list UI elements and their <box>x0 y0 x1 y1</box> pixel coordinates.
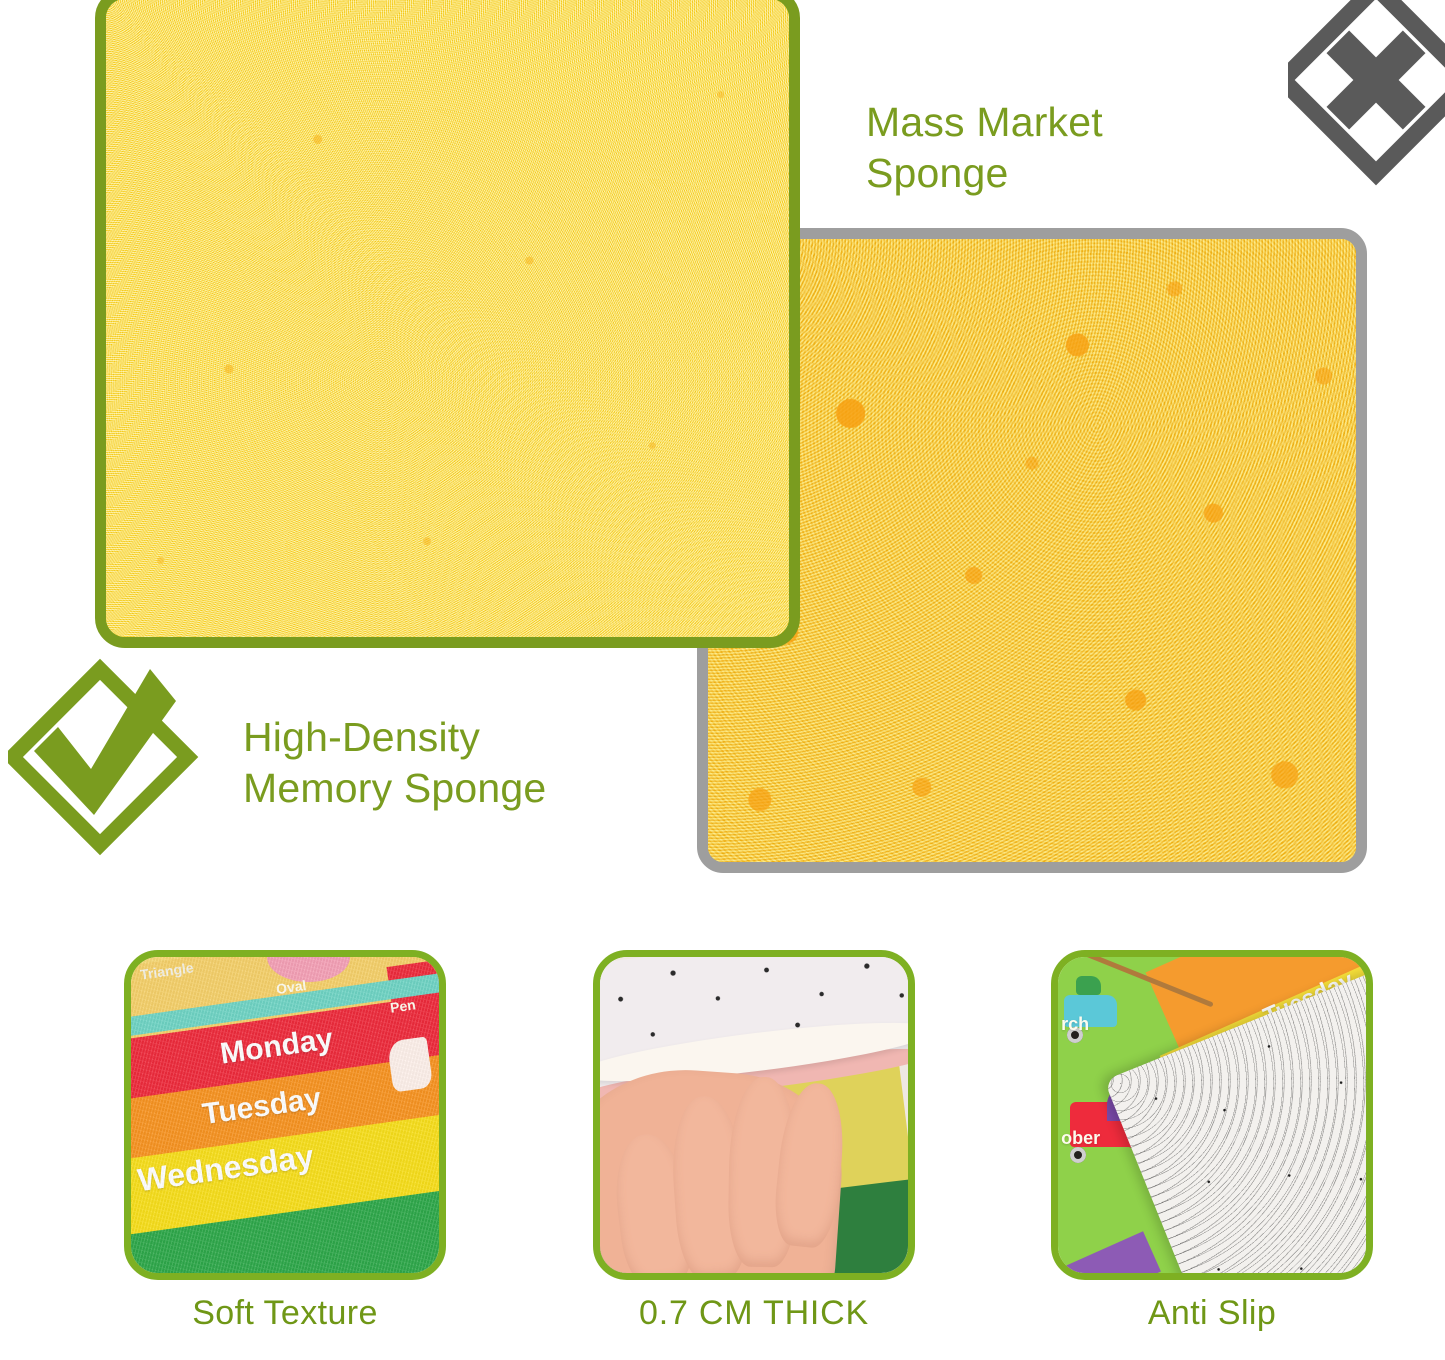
feature-caption-thickness: 0.7 CM THICK <box>593 1294 915 1333</box>
feature-item-soft-texture: Triangle Oval Pen Monday Tuesday Wednesd… <box>124 950 446 1333</box>
sponge-comparison-section: Mass Market Sponge High-Density Memory S… <box>0 0 1445 930</box>
feature-caption-anti-slip: Anti Slip <box>1051 1294 1373 1333</box>
soft-texture-thumbnail[interactable]: Triangle Oval Pen Monday Tuesday Wednesd… <box>124 950 446 1280</box>
mat-word-october: ober <box>1061 1128 1100 1149</box>
feature-item-anti-slip: rch ober Tuesday We Sat Anti Slip <box>1051 950 1373 1333</box>
mat-train-wheel <box>1070 1147 1086 1163</box>
cross-diamond-icon <box>1288 0 1445 207</box>
feature-item-thickness: Thursday day 0.7 CM THICK <box>593 950 915 1333</box>
thickness-photo: Thursday day <box>600 957 908 1273</box>
mat-word-march: rch <box>1061 1014 1089 1035</box>
mass-market-sponge-texture <box>708 239 1356 862</box>
feature-caption-soft-texture: Soft Texture <box>124 1294 446 1333</box>
check-diamond-icon <box>8 657 230 867</box>
high-density-sponge-texture <box>106 0 789 637</box>
feature-row: Triangle Oval Pen Monday Tuesday Wednesd… <box>0 950 1445 1360</box>
high-density-sponge-image <box>95 0 800 648</box>
mat-train-car <box>1076 976 1101 995</box>
soft-texture-photo: Triangle Oval Pen Monday Tuesday Wednesd… <box>131 957 439 1273</box>
thickness-thumbnail[interactable]: Thursday day <box>593 950 915 1280</box>
mass-market-sponge-label: Mass Market Sponge <box>866 97 1286 199</box>
mat-fabric-texture <box>131 957 439 1273</box>
anti-slip-thumbnail[interactable]: rch ober Tuesday We Sat <box>1051 950 1373 1280</box>
anti-slip-photo: rch ober Tuesday We Sat <box>1058 957 1366 1273</box>
high-density-sponge-label: High-Density Memory Sponge <box>243 712 713 814</box>
